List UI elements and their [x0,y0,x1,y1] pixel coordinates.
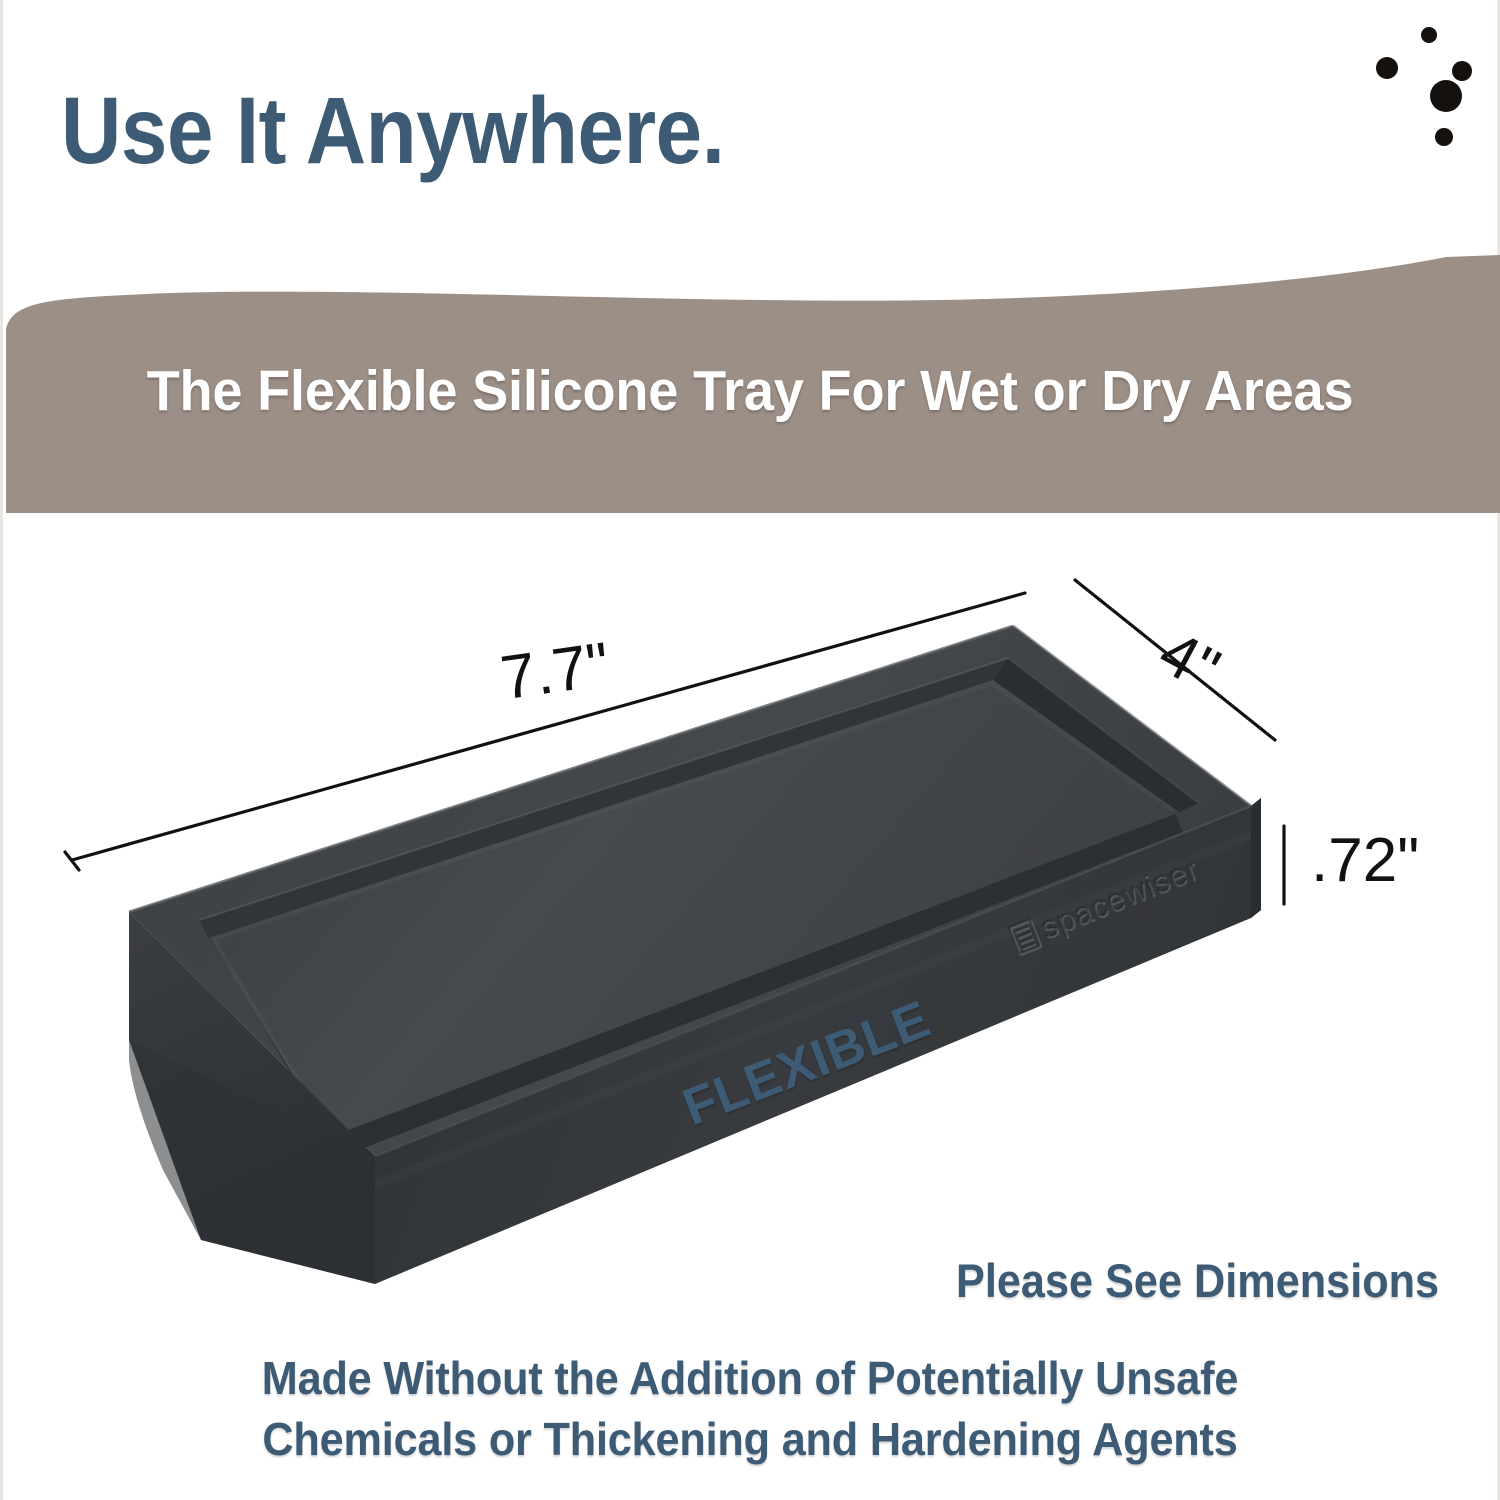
splatter-dot-1 [1421,27,1437,43]
splatter-dot-5 [1435,128,1453,146]
dot-splatter-icon [1343,18,1500,168]
disclaimer-line-2: Chemicals or Thickening and Hardening Ag… [48,1409,1452,1470]
dimension-length-label: 7.7" [497,629,614,714]
product-illustration: spacewiser spacewiser [3,540,1500,1300]
see-dimensions-note: Please See Dimensions [956,1253,1439,1308]
disclaimer-line-1: Made Without the Addition of Potentially… [48,1348,1452,1409]
splatter-dot-3 [1452,61,1472,81]
disclaimer-text: Made Without the Addition of Potentially… [3,1348,1497,1469]
subtitle-text: The Flexible Silicone Tray For Wet or Dr… [40,358,1459,424]
splatter-dot-4 [1430,80,1462,112]
page-title: Use It Anywhere. [61,84,725,179]
marketing-image-canvas: Use It Anywhere. The Flexible Silicone T… [0,0,1500,1500]
dimension-height-label: .72" [1311,825,1419,896]
splatter-dot-2 [1376,57,1398,79]
